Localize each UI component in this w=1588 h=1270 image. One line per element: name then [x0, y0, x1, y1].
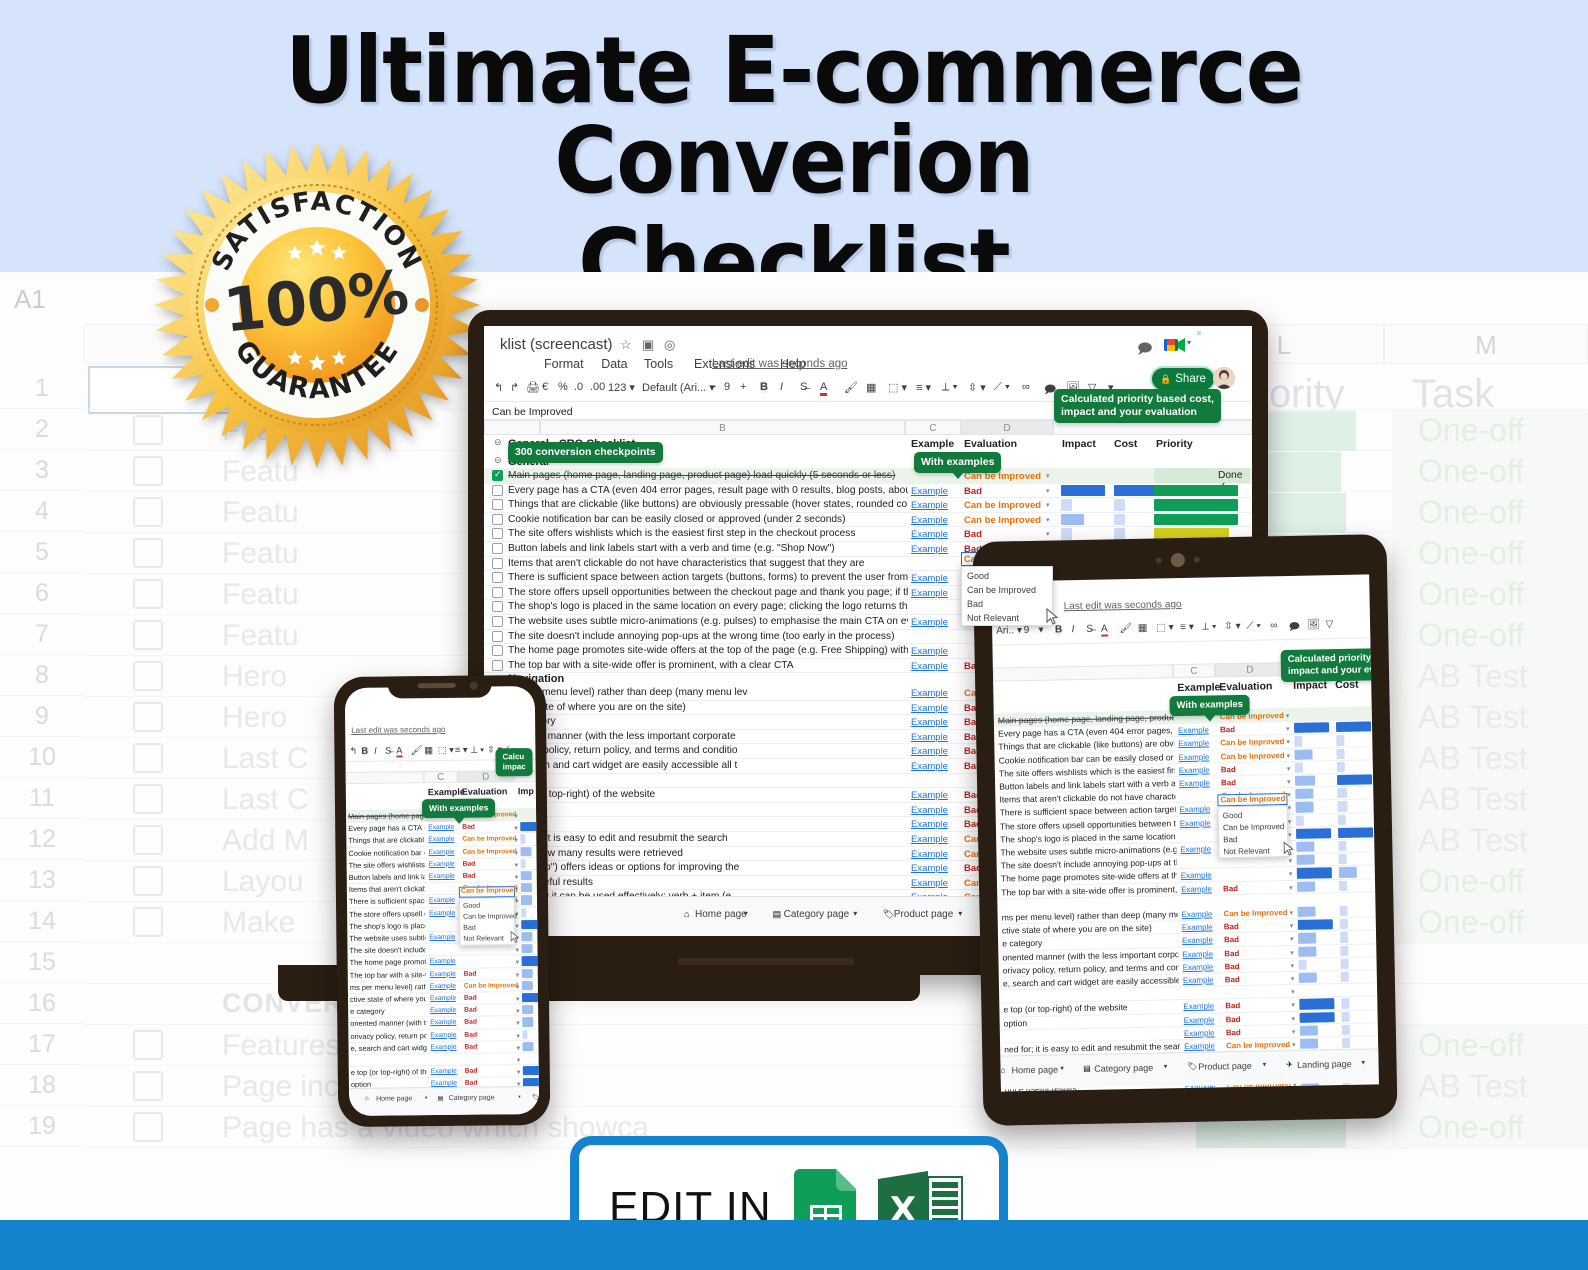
evaluation-value[interactable]: Bad [1226, 1015, 1241, 1024]
example-link[interactable]: Example [430, 1031, 456, 1038]
example-link[interactable]: Example [911, 515, 948, 526]
toolbar-font-size-decrease[interactable]: − [710, 381, 716, 393]
evaluation-value[interactable]: Can be Improved [1224, 908, 1288, 918]
example-link[interactable]: Example [429, 897, 455, 904]
sheet-tab-menu-icon[interactable]: ▾ [1263, 1060, 1267, 1068]
toolbar-font-size-chevron[interactable]: ▾ [1038, 625, 1043, 636]
document-title[interactable]: klist (screencast) [500, 336, 613, 353]
evaluation-value[interactable]: Bad [1225, 962, 1240, 971]
example-link[interactable]: Example [1181, 884, 1212, 894]
dropdown-caret-icon[interactable]: ▾ [514, 824, 518, 832]
evaluation-value[interactable]: Bad [464, 1031, 477, 1038]
dropdown-caret-icon[interactable]: ▾ [1046, 516, 1050, 524]
toolbar-text-color-button[interactable]: A [1101, 623, 1108, 634]
phone-colhdr-b[interactable] [346, 771, 424, 784]
impact-bar [1299, 959, 1307, 969]
evaluation-value[interactable]: Bad [1224, 922, 1239, 931]
background-checkbox[interactable] [133, 907, 163, 937]
dropdown-option-not-relevant[interactable]: Not Relevant [1223, 846, 1269, 856]
toolbar-strikethrough-button[interactable]: S̶ [385, 746, 391, 756]
background-checkbox[interactable] [133, 784, 163, 814]
example-link[interactable]: Example [428, 836, 454, 843]
sheet-tab-home-page[interactable]: Home page [1011, 1064, 1058, 1075]
toolbar-borders-icon[interactable]: ▦ [424, 745, 433, 756]
example-link[interactable]: Example [430, 1007, 456, 1014]
toolbar-text-wrap-icon[interactable]: ⇳ ▾ [968, 381, 986, 394]
toolbar-strikethrough-button[interactable]: S̶ [1086, 624, 1093, 635]
example-link[interactable]: Example [911, 878, 948, 889]
example-link[interactable]: Example [1180, 818, 1211, 828]
dropdown-caret-icon[interactable]: ▾ [1291, 1001, 1295, 1009]
dropdown-caret-icon[interactable]: ▾ [1292, 1015, 1296, 1023]
toolbar-bold-button[interactable]: B [361, 746, 368, 756]
toolbar-print-icon[interactable]: 🖨 [526, 381, 540, 394]
example-link[interactable]: Example [1180, 845, 1211, 855]
checklist-item-text: Cookie notification bar can be easily cl… [348, 848, 424, 858]
dropdown-caret-icon[interactable]: ▾ [1290, 909, 1294, 917]
move-folder-icon[interactable]: ▣ [642, 337, 654, 353]
menu-tools[interactable]: Tools [644, 357, 673, 371]
background-checkbox[interactable] [133, 743, 163, 773]
sheet-tab-menu-icon[interactable]: ▾ [1060, 1064, 1064, 1072]
example-link[interactable]: Example [428, 824, 454, 831]
toolbar-undo-icon[interactable]: ↰ [349, 746, 357, 757]
row-checkbox[interactable] [492, 499, 503, 510]
toolbar-strikethrough-button[interactable]: S̶ [800, 381, 807, 393]
toolbar-fill-icon[interactable]: 🖌 [411, 745, 423, 756]
dropdown-caret-icon[interactable]: ▾ [1291, 988, 1295, 996]
background-checkbox[interactable] [133, 497, 163, 527]
toolbar-merge-cells-icon[interactable]: ⬚ ▾ [888, 381, 907, 394]
example-link[interactable]: Example [1179, 779, 1210, 789]
toolbar-redo-icon[interactable]: ↱ [510, 381, 519, 394]
evaluation-value[interactable]: Bad [1223, 884, 1238, 893]
sheet-tab-category-page[interactable]: Category page [1094, 1063, 1153, 1074]
toolbar-horizontal-align-icon[interactable]: ≡ ▾ [916, 381, 931, 394]
toolbar-rotate-icon[interactable]: ⟋ ▾ [1246, 621, 1261, 633]
phone-header-example: Example [428, 787, 465, 797]
sheet-tab-menu-icon[interactable]: ▾ [425, 1095, 428, 1101]
evaluation-value[interactable]: Bad [464, 1043, 477, 1050]
example-link[interactable]: Example [911, 790, 948, 801]
row-checkbox[interactable] [492, 470, 503, 481]
toolbar-merge-icon[interactable]: ⬚ ▾ [438, 745, 454, 756]
example-link[interactable]: Example [1178, 739, 1209, 749]
evaluation-dropdown[interactable]: GoodCan be ImprovedBadNot Relevant [961, 566, 1053, 626]
impact-bar [521, 944, 532, 953]
sheet-tab-menu-icon[interactable]: ▾ [853, 909, 857, 918]
dropdown-caret-icon[interactable]: ▾ [1289, 870, 1293, 878]
dropdown-caret-icon[interactable]: ▾ [515, 898, 519, 906]
tablet-colhdr-c[interactable]: C [1173, 663, 1215, 678]
example-link[interactable]: Example [429, 934, 455, 941]
column-header-b[interactable]: B [540, 420, 905, 435]
example-link[interactable]: Example [911, 573, 948, 584]
priority-bar [1377, 800, 1378, 811]
column-header-d[interactable]: D [961, 420, 1053, 435]
dropdown-option-bad[interactable]: Bad [463, 925, 476, 932]
bottom-accent-bar [0, 1220, 1588, 1270]
dropdown-caret-icon[interactable]: ▾ [515, 946, 519, 954]
background-name-box: A1 [14, 284, 46, 315]
example-link[interactable]: Example [1182, 909, 1213, 919]
example-link[interactable]: Example [430, 970, 456, 977]
toolbar-decrease-decimal-icon[interactable]: .0 [574, 381, 583, 393]
example-link[interactable]: Example [428, 848, 454, 855]
dropdown-caret-icon[interactable]: ▾ [1292, 1028, 1296, 1036]
dropdown-option-can-be-improved[interactable]: Can be Improved [463, 913, 517, 921]
share-button[interactable]: 🔒 Share [1152, 368, 1214, 390]
background-task-value: One-off [1418, 412, 1524, 449]
cloud-status-icon[interactable]: ◎ [664, 337, 675, 353]
star-icon[interactable]: ☆ [620, 337, 632, 353]
dropdown-caret-icon[interactable]: ▾ [1290, 935, 1294, 943]
dropdown-option-can-be-improved[interactable]: Can be Improved [1223, 822, 1285, 832]
evaluation-value[interactable]: Bad [462, 824, 475, 831]
dropdown-caret-icon[interactable]: ▾ [1291, 962, 1295, 970]
toolbar-h-align-icon[interactable]: ≡ ▾ [1180, 622, 1194, 633]
dropdown-caret-icon[interactable]: ▾ [516, 1032, 520, 1040]
dropdown-caret-icon[interactable]: ▾ [1287, 752, 1291, 760]
toolbar-v-align-icon[interactable]: ⟂ ▾ [1202, 621, 1217, 633]
dropdown-option-not-relevant[interactable]: Not Relevant [967, 613, 1019, 623]
evaluation-value[interactable]: Bad [1221, 778, 1236, 787]
sheet-tab-menu-icon[interactable]: ▾ [1361, 1059, 1365, 1067]
example-link[interactable]: Example [1184, 1028, 1215, 1038]
background-task-value: AB Test [1418, 740, 1528, 777]
callout-priority-line2: impact and your evaluation [1061, 406, 1214, 419]
toolbar-insert-link-icon[interactable]: ∞ [1022, 381, 1030, 393]
example-link[interactable]: Example [1183, 1002, 1214, 1012]
dropdown-option-good[interactable]: Good [1223, 811, 1243, 820]
row-checkbox[interactable] [492, 587, 503, 598]
tablet-callout-examples-text: With examples [1177, 699, 1244, 711]
example-link[interactable]: Example [1183, 975, 1214, 985]
background-checkbox[interactable] [133, 620, 163, 650]
evaluation-value[interactable]: Can be Improved [462, 848, 516, 856]
dropdown-option-good[interactable]: Good [463, 903, 480, 910]
toolbar-h-align-icon[interactable]: ≡ ▾ [455, 745, 468, 756]
sheet-tab-menu-icon[interactable]: ▾ [958, 909, 962, 918]
example-link[interactable]: Example [911, 529, 948, 540]
group-toggle-icon-1[interactable]: ⊝ [494, 437, 502, 448]
evaluation-value[interactable]: Bad [463, 860, 476, 867]
toolbar-borders-icon[interactable]: ▦ [866, 381, 876, 394]
background-task-value: AB Test [1418, 781, 1528, 818]
dropdown-caret-icon[interactable]: ▾ [517, 1068, 521, 1076]
toolbar-font-size[interactable]: 9 [1024, 625, 1030, 636]
dropdown-caret-icon[interactable]: ▾ [1292, 1041, 1296, 1049]
sheet-tab-category-page[interactable]: Category page [449, 1094, 495, 1101]
dropdown-caret-icon[interactable]: ▾ [514, 849, 518, 857]
example-link[interactable]: Example [911, 746, 948, 757]
example-link[interactable]: Example [430, 983, 456, 990]
dropdown-caret-icon[interactable]: ▾ [1288, 804, 1292, 812]
dropdown-option-good[interactable]: Good [967, 571, 989, 581]
evaluation-value[interactable]: Can be Improved [462, 836, 516, 844]
example-link[interactable]: Example [1182, 949, 1213, 959]
example-link[interactable]: Example [1180, 805, 1211, 815]
example-link[interactable]: Example [911, 863, 948, 874]
background-checkbox[interactable] [133, 825, 163, 855]
example-link[interactable]: Example [431, 1068, 457, 1075]
example-link[interactable]: Example [1178, 726, 1209, 736]
tablet-dropdown[interactable]: GoodCan be ImprovedBadNot Relevant [1218, 805, 1289, 858]
background-checkbox[interactable] [133, 579, 163, 609]
toolbar-wrap-icon[interactable]: ⇳ ▾ [1224, 621, 1241, 632]
background-row-number: 8 [0, 655, 84, 696]
example-link[interactable]: Example [430, 1019, 456, 1026]
background-checkbox[interactable] [133, 1030, 163, 1060]
row-checkbox[interactable] [492, 631, 503, 642]
example-link[interactable]: Example [911, 703, 948, 714]
sheet-tab-menu-icon[interactable]: ▾ [744, 909, 748, 918]
toolbar-font-size-increase[interactable]: + [740, 381, 746, 393]
dropdown-caret-icon[interactable]: ▾ [1046, 501, 1050, 509]
group-toggle-icon-2[interactable]: ⊝ [494, 455, 502, 466]
phone-dropdown[interactable]: GoodCan be ImprovedBadNot Relevant [459, 897, 515, 946]
dropdown-caret-icon[interactable]: ▾ [1291, 975, 1295, 983]
background-task-value: One-off [1418, 535, 1524, 572]
example-link[interactable]: Example [911, 500, 948, 511]
example-link[interactable]: Example [429, 909, 455, 916]
example-link[interactable]: Example [911, 646, 948, 657]
evaluation-value[interactable]: Can be Improved [1226, 1040, 1290, 1050]
evaluation-value[interactable]: Bad [1220, 725, 1235, 734]
example-link[interactable]: Example [1182, 936, 1213, 946]
sheet-tab-menu-icon[interactable]: ▾ [518, 1094, 521, 1100]
dropdown-caret-icon[interactable]: ▾ [1289, 857, 1293, 865]
dropdown-caret-icon[interactable]: ▾ [1290, 922, 1294, 930]
dropdown-caret-icon[interactable]: ▾ [515, 873, 519, 881]
row-checkbox[interactable] [492, 558, 503, 569]
evaluation-value[interactable]: Can be Improved [964, 500, 1041, 511]
formula-bar-value[interactable]: Can be Improved [492, 406, 573, 418]
dropdown-caret-icon[interactable]: ▾ [516, 1020, 520, 1028]
toolbar-font-menu[interactable]: Default (Ari... ▾ [642, 381, 715, 394]
dropdown-option-can-be-improved[interactable]: Can be Improved [967, 585, 1036, 595]
evaluation-value[interactable]: Bad [964, 529, 982, 540]
toolbar-italic-button[interactable]: I [1071, 624, 1074, 635]
checklist-item-text: The home page promotes site-wide offers … [350, 958, 426, 968]
example-link[interactable]: Example [1182, 923, 1213, 933]
dropdown-caret-icon[interactable]: ▾ [515, 861, 519, 869]
tablet-colhdr-b[interactable] [993, 664, 1173, 681]
example-link[interactable]: Example [430, 958, 456, 965]
dropdown-caret-icon[interactable]: ▾ [1287, 765, 1291, 773]
toolbar-italic-button[interactable]: I [780, 381, 783, 393]
example-link[interactable]: Example [430, 1044, 456, 1051]
row-checkbox[interactable] [492, 645, 503, 656]
column-header-c[interactable]: C [905, 420, 961, 435]
example-link[interactable]: Example [911, 732, 948, 743]
evaluation-value[interactable]: Bad [964, 486, 982, 497]
dropdown-option-not-relevant[interactable]: Not Relevant [463, 935, 504, 942]
impact-bar [520, 822, 539, 831]
google-meet-icon[interactable] [1164, 337, 1186, 353]
toolbar-text-color-button[interactable]: A [396, 745, 402, 755]
evaluation-value[interactable]: Bad [465, 1068, 478, 1075]
dropdown-caret-icon[interactable]: ▾ [516, 959, 520, 967]
example-link[interactable]: Example [911, 717, 948, 728]
example-link[interactable]: Example [911, 849, 948, 860]
background-checkbox[interactable] [133, 661, 163, 691]
row-checkbox[interactable] [492, 543, 503, 554]
background-checkbox[interactable] [133, 1071, 163, 1101]
avatar[interactable] [1213, 367, 1235, 389]
dropdown-caret-icon[interactable]: ▾ [1046, 487, 1050, 495]
evaluation-value[interactable]: Bad [1226, 1028, 1241, 1037]
evaluation-value[interactable]: Bad [464, 970, 477, 977]
dropdown-option-bad[interactable]: Bad [1223, 835, 1237, 844]
example-link[interactable]: Example [1179, 752, 1210, 762]
phone-colhdr-c[interactable]: C [424, 771, 458, 783]
dropdown-caret-icon[interactable]: ▾ [514, 812, 518, 820]
toolbar-currency-icon[interactable]: € [542, 381, 548, 393]
example-link[interactable]: Example [911, 761, 948, 772]
chevron-down-icon[interactable]: ▾ [1187, 338, 1191, 347]
toolbar-filter-icon[interactable]: ▽ [1325, 619, 1333, 630]
toolbar-number-format-menu[interactable]: 123 ▾ [608, 381, 635, 394]
dropdown-caret-icon[interactable]: ▾ [1288, 831, 1292, 839]
sheet-tab-category-page[interactable]: Category page [784, 909, 850, 920]
example-link[interactable]: Example [911, 544, 948, 555]
menu-format[interactable]: Format [544, 357, 584, 371]
example-link[interactable]: Example [1184, 1015, 1215, 1025]
dropdown-caret-icon[interactable]: ▾ [1288, 818, 1292, 826]
sheet-tab-home-page[interactable]: Home page [376, 1095, 412, 1102]
toolbar-comment-icon[interactable]: 🗩 [1289, 620, 1301, 637]
toolbar-text-color-button[interactable]: A [820, 381, 827, 393]
toolbar-increase-decimal-icon[interactable]: .00 [590, 381, 605, 393]
evaluation-value[interactable]: Bad [463, 873, 476, 880]
dropdown-caret-icon[interactable]: ▾ [1290, 949, 1294, 957]
checklist-item-text: Main pages (home page, landing page, pro… [508, 470, 908, 481]
dropdown-caret-icon[interactable]: ▾ [1286, 725, 1290, 733]
dropdown-caret-icon[interactable]: ▾ [1287, 791, 1291, 799]
dropdown-caret-icon[interactable]: ▾ [1287, 778, 1291, 786]
checklist-item-text: Button labels and link labels start with… [508, 543, 908, 554]
dropdown-caret-icon[interactable]: ▾ [516, 995, 520, 1003]
example-link[interactable]: Example [429, 873, 455, 880]
evaluation-value[interactable]: Can be Improved [1221, 751, 1285, 761]
dropdown-caret-icon[interactable]: ▾ [517, 1056, 521, 1064]
evaluation-value[interactable]: Bad [1225, 975, 1240, 984]
toolbar-merge-icon[interactable]: ⬚ ▾ [1156, 622, 1174, 633]
background-checkbox[interactable] [133, 702, 163, 732]
row-checkbox[interactable] [492, 514, 503, 525]
tablet-sensor-left [1156, 557, 1162, 563]
evaluation-value[interactable]: Can be Improved [1220, 737, 1284, 747]
example-link[interactable]: Example [430, 995, 456, 1002]
example-link[interactable]: Example [1179, 765, 1210, 775]
toolbar-fill-color-icon[interactable]: 🖌 [1119, 623, 1132, 634]
row-checkbox[interactable] [492, 572, 503, 583]
example-link[interactable]: Example [911, 661, 948, 672]
example-link[interactable]: Example [911, 588, 948, 599]
dropdown-caret-icon[interactable]: ▾ [1286, 738, 1290, 746]
row-checkbox[interactable] [492, 528, 503, 539]
dropdown-caret-icon[interactable]: ▾ [1046, 530, 1050, 538]
dropdown-option-bad[interactable]: Bad [967, 599, 983, 609]
example-link[interactable]: Example [911, 617, 948, 628]
sheet-tab-product-page[interactable]: Product page [894, 909, 954, 920]
toolbar-undo-icon[interactable]: ↰ [494, 381, 503, 394]
toolbar-borders-icon[interactable]: ▦ [1138, 623, 1148, 634]
cost-bar [1342, 1038, 1350, 1048]
sheet-tab-product-page[interactable]: Product page [1198, 1061, 1252, 1072]
sheet-tab-menu-icon[interactable]: ▾ [1164, 1062, 1168, 1070]
evaluation-value[interactable]: Can be Improved [464, 982, 518, 990]
background-checkbox[interactable] [133, 866, 163, 896]
example-link[interactable]: Example [1183, 962, 1214, 972]
toolbar-font-menu[interactable]: Ari.. ▾ [996, 625, 1022, 636]
row-checkbox[interactable] [492, 660, 503, 671]
evaluation-value[interactable]: Bad [1224, 935, 1239, 944]
evaluation-value[interactable]: Bad [1224, 949, 1239, 958]
evaluation-value[interactable]: Can be Improved [964, 515, 1041, 526]
example-link[interactable]: Example [911, 486, 948, 497]
dropdown-caret-icon[interactable]: ▾ [1289, 884, 1293, 892]
toolbar-v-align-icon[interactable]: ⟂ ▾ [471, 745, 485, 756]
example-link[interactable]: Example [911, 819, 948, 830]
callout-with-examples-text: With examples [921, 456, 994, 468]
toolbar-percent-icon[interactable]: % [558, 381, 568, 393]
dropdown-caret-icon[interactable]: ▾ [517, 1044, 521, 1052]
example-link[interactable]: Example [429, 861, 455, 868]
row-checkbox[interactable] [492, 485, 503, 496]
evaluation-value[interactable]: Bad [464, 1019, 477, 1026]
dropdown-caret-icon[interactable]: ▾ [515, 922, 519, 930]
toolbar-fill-color-icon[interactable]: 🖌 [844, 381, 858, 394]
example-link[interactable]: Example [1184, 1041, 1215, 1051]
evaluation-value[interactable]: Bad [1221, 765, 1236, 774]
row-checkbox[interactable] [492, 616, 503, 627]
dropdown-caret-icon[interactable]: ▾ [516, 1007, 520, 1015]
comment-icon[interactable]: 🗩 [1137, 338, 1153, 362]
menu-data[interactable]: Data [601, 357, 627, 371]
dropdown-caret-icon[interactable]: ▾ [1286, 712, 1290, 720]
dropdown-caret-icon[interactable]: ▾ [516, 971, 520, 979]
row-checkbox[interactable] [492, 601, 503, 612]
example-link[interactable]: Example [1181, 871, 1212, 881]
dropdown-caret-icon[interactable]: ▾ [516, 983, 520, 991]
toolbar-italic-button[interactable]: I [374, 746, 377, 756]
evaluation-value[interactable]: Bad [464, 1007, 477, 1014]
sheet-tab-landing-page[interactable]: Landing page [1297, 1059, 1352, 1070]
toolbar-image-icon[interactable]: 🖼 [1307, 619, 1320, 630]
example-link[interactable]: Example [911, 688, 948, 699]
background-checkbox[interactable] [133, 1112, 163, 1142]
toolbar-text-rotation-icon[interactable]: ⟋ ▾ [994, 381, 1010, 394]
toolbar-link-icon[interactable]: ∞ [1270, 620, 1277, 631]
dropdown-caret-icon[interactable]: ▾ [1046, 472, 1050, 480]
tablet-dropdown-options[interactable]: GoodCan be ImprovedBadNot Relevant [1219, 806, 1287, 807]
example-link[interactable]: Example [911, 834, 948, 845]
phone-dropdown-options[interactable]: GoodCan be ImprovedBadNot Relevant [460, 898, 514, 899]
background-checkbox[interactable] [133, 538, 163, 568]
checklist-item-text: Items that aren't clickable do not have … [349, 884, 425, 894]
sheet-tab-home-page[interactable]: Home page [695, 909, 747, 920]
dropdown-caret-icon[interactable]: ▾ [514, 837, 518, 845]
toolbar-vertical-align-icon[interactable]: ⟂ ▾ [942, 381, 958, 394]
evaluation-value[interactable]: Bad [464, 995, 477, 1002]
tablet-colhdr-d[interactable]: D [1215, 662, 1285, 677]
evaluation-value[interactable]: Bad [1225, 1001, 1240, 1010]
toolbar-font-size-value[interactable]: 9 [724, 381, 730, 393]
toolbar-bold-button[interactable]: B [760, 381, 768, 393]
example-link[interactable]: Example [911, 805, 948, 816]
